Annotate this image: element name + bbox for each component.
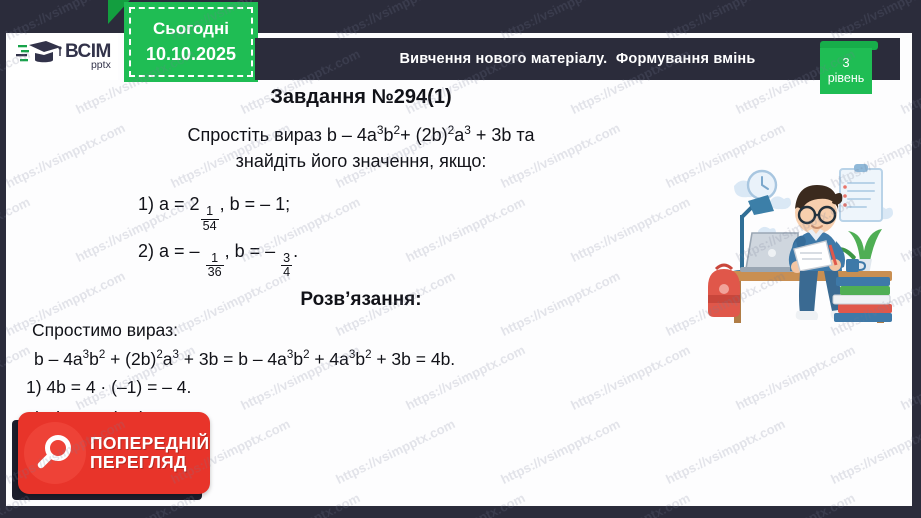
fraction: 136 <box>206 252 224 279</box>
date-badge-container: Сьогодні 10.10.2025 <box>108 0 258 88</box>
condition-item-2: 2) a = – 136, b = – 34. <box>138 233 706 279</box>
student-at-desk-illustration <box>694 141 910 330</box>
date-badge-date: 10.10.2025 <box>146 41 236 67</box>
eq-part: + 4a <box>309 349 348 369</box>
fraction-numerator: 3 <box>281 252 292 265</box>
task-title: Завдання №294(1) <box>16 86 706 109</box>
graduation-cap-icon <box>16 39 62 74</box>
level-badge-number: 3 <box>842 55 849 71</box>
fraction: 34 <box>281 252 292 279</box>
eq-part: + 3b = 4b. <box>371 349 455 369</box>
solution-subtitle: Спростимо вираз: <box>16 320 706 341</box>
date-badge-label: Сьогодні <box>153 17 229 42</box>
statement-part: + (2b) <box>400 125 448 145</box>
brand-logo: ВСІМ pptx <box>8 33 118 80</box>
preview-badge-text: ПОПЕРЕДНІЙ ПЕРЕГЛЯД <box>90 434 209 472</box>
statement-part: b <box>384 125 394 145</box>
eq-part: b – 4a <box>34 349 83 369</box>
header-bar: Вивчення нового матеріалу. Формування вм… <box>255 38 900 80</box>
statement-part: + 3b та <box>471 125 535 145</box>
eq-part: b <box>89 349 99 369</box>
slide-canvas: ВСІМ pptx Сьогодні 10.10.2025 Вивчення н… <box>0 0 921 518</box>
eq-part: + (2b) <box>105 349 156 369</box>
statement-line-2: знайдіть його значення, якщо: <box>236 151 487 171</box>
date-badge: Сьогодні 10.10.2025 <box>124 2 258 82</box>
eq-part: b <box>293 349 303 369</box>
eq-part: b <box>355 349 365 369</box>
condition-index: 1) <box>138 194 159 214</box>
condition-tail: . <box>293 241 298 261</box>
statement-sup: 3 <box>464 123 471 137</box>
magnifier-icon <box>24 422 86 484</box>
fraction-denominator: 54 <box>201 219 219 233</box>
brand-logo-text: ВСІМ pptx <box>65 42 111 71</box>
fraction-denominator: 4 <box>281 265 292 279</box>
conditions-list: 1) a = 2154, b = – 1; 2) a = – 136, b = … <box>16 186 706 279</box>
preview-badge-line-2: ПЕРЕГЛЯД <box>90 453 209 472</box>
answer-line-1: 1) 4b = 4 · (–1) = – 4. <box>16 377 706 398</box>
eq-part: + 3b = b – 4a <box>179 349 287 369</box>
fraction: 154 <box>201 205 219 232</box>
solution-equation: b – 4a3b2 + (2b)2a3 + 3b = b – 4a3b2 + 4… <box>16 349 706 370</box>
condition-b-mid: , b = – <box>225 241 281 261</box>
condition-item-1: 1) a = 2154, b = – 1; <box>138 186 706 232</box>
solution-title: Розв’язання: <box>16 289 706 311</box>
statement-part: Спростіть вираз b – 4a <box>188 125 377 145</box>
condition-b: , b = – 1; <box>220 194 291 214</box>
level-badge-label: рівень <box>828 71 865 87</box>
level-badge: 3 рівень <box>820 48 872 94</box>
fraction-numerator: 1 <box>206 252 224 265</box>
statement-sup: 3 <box>377 123 384 137</box>
condition-a: a = 2 <box>159 194 200 214</box>
task-statement: Спростіть вираз b – 4a3b2+ (2b)2a3 + 3b … <box>16 122 706 174</box>
eq-part: a <box>163 349 173 369</box>
header-title: Вивчення нового матеріалу. Формування вм… <box>399 51 755 67</box>
preview-badge-line-1: ПОПЕРЕДНІЙ <box>90 434 209 453</box>
condition-a: a = – <box>159 241 205 261</box>
condition-index: 2) <box>138 241 159 261</box>
preview-badge[interactable]: ПОПЕРЕДНІЙ ПЕРЕГЛЯД <box>18 412 210 494</box>
fraction-denominator: 36 <box>206 265 224 279</box>
fraction-numerator: 1 <box>201 205 219 218</box>
statement-part: a <box>454 125 464 145</box>
